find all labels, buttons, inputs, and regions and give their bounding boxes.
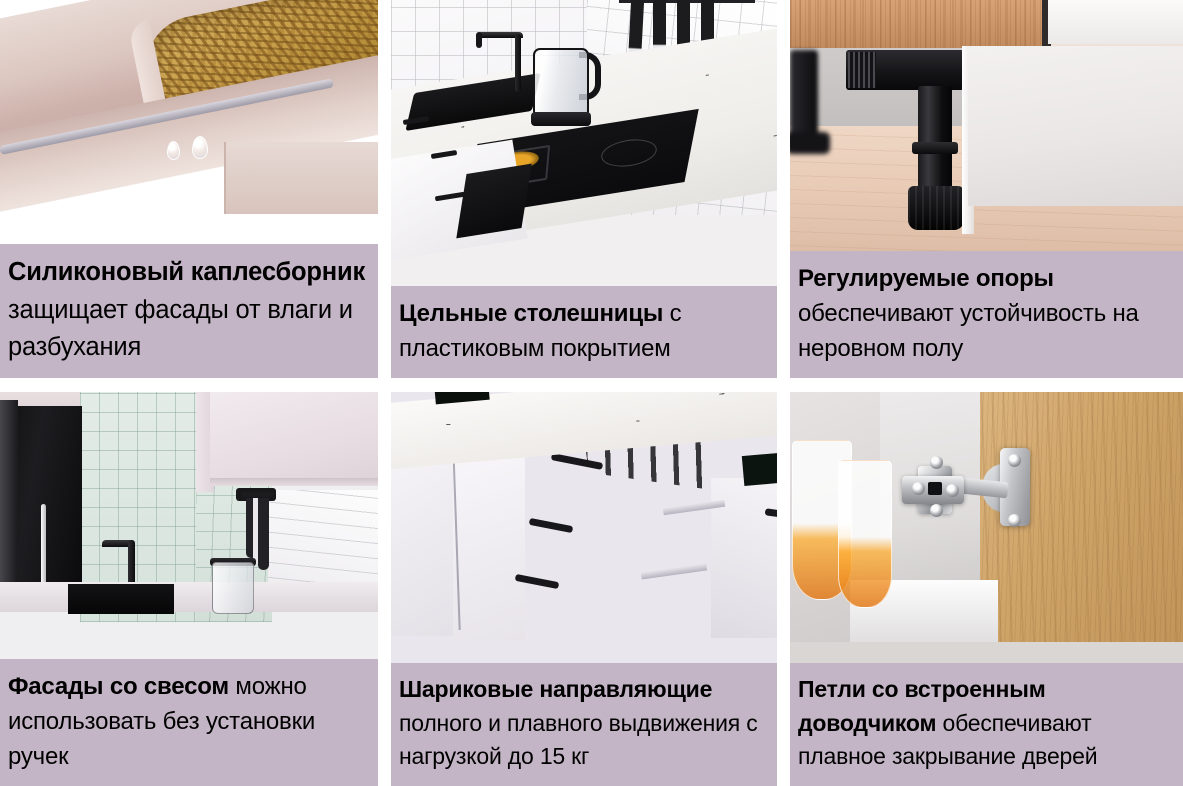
feature-card-ball-bearing-slides[interactable]: Шариковые направляющие полного и плавног…: [391, 392, 777, 786]
fridge-side-shape: [0, 400, 18, 612]
screw-icon: [930, 456, 943, 469]
feature-caption-lead: Цельные столешницы: [399, 300, 663, 327]
leg-post-shape: [918, 86, 952, 196]
white-cabinet-shape: [1048, 0, 1183, 44]
feature-caption: Регулируемые опоры обеспечивают устойчив…: [790, 251, 1183, 378]
feature-card-adjustable-legs[interactable]: Регулируемые опоры обеспечивают устойчив…: [790, 0, 1183, 378]
feature-caption: Силиконовый каплесборник защищает фасады…: [0, 244, 378, 378]
towel-shape: [258, 498, 269, 570]
kettle-base-shape: [531, 112, 591, 126]
water-drop-icon: [167, 141, 180, 160]
oven-shape: [456, 164, 531, 239]
feature-caption-lead: Регулируемые опоры: [798, 265, 1054, 292]
feature-caption: Цельные столешницы с пластиковым покрыти…: [391, 286, 777, 378]
feature-caption-rest: обеспечивают устойчивость на неровном по…: [798, 300, 1139, 362]
sink-basin-shape: [68, 584, 174, 614]
upper-cabinet-overhang-shape: [210, 478, 378, 486]
glass-kettle-shape: [533, 48, 589, 120]
feature-caption-rest: защищает фасады от влаги и разбухания: [8, 296, 353, 361]
feature-grid: Силиконовый каплесборник защищает фасады…: [0, 0, 1183, 786]
whisky-glass-shape: [838, 460, 892, 608]
towel-rail-shape: [242, 492, 274, 497]
screw-icon: [1008, 514, 1021, 527]
plinth-panel-shape: [968, 46, 1183, 206]
wood-grain-overlay: [790, 0, 1050, 48]
worktop-cutout-shape: [742, 452, 777, 486]
upper-cabinet-shape: [210, 392, 378, 484]
screw-icon: [912, 482, 925, 495]
screw-icon: [1008, 454, 1021, 467]
leg-foot-shape: [908, 186, 964, 230]
background-leg-foot-shape: [790, 132, 830, 154]
countertop-shape: [0, 582, 378, 612]
feature-caption: Фасады со свесом можно использовать без …: [0, 659, 378, 786]
screw-icon: [930, 504, 943, 517]
faucet-body-shape: [128, 540, 135, 586]
ball-bearing-slide-shape: [641, 563, 707, 579]
faucet-tip-shape: [476, 32, 482, 48]
screw-icon: [946, 484, 959, 497]
feature-card-soft-close-hinges[interactable]: Петли со встроенным доводчиком обеспечив…: [790, 392, 1183, 786]
feature-caption: Петли со встроенным доводчиком обеспечив…: [790, 663, 1183, 786]
hinge-adjust-slot-shape: [928, 482, 942, 495]
cabinet-front-shape: [226, 142, 378, 214]
feature-caption-lead: Силиконовый каплесборник: [8, 258, 365, 286]
feature-caption: Шариковые направляющие полного и плавног…: [391, 663, 777, 786]
glass-kettle-shape: [212, 562, 254, 614]
leg-ribs-shape: [848, 52, 876, 88]
water-drop-icon: [192, 136, 208, 159]
feature-caption-lead: Фасады со свесом: [8, 673, 229, 700]
feature-card-solid-worktops[interactable]: Цельные столешницы с пластиковым покрыти…: [391, 0, 777, 378]
faucet-body-shape: [515, 34, 521, 92]
leg-adjust-collar-shape: [912, 142, 958, 154]
feature-card-overhang-fronts[interactable]: Фасады со свесом можно использовать без …: [0, 392, 378, 786]
background-leg-shape: [790, 50, 818, 142]
feature-card-silicone-drip-guard[interactable]: Силиконовый каплесборник защищает фасады…: [0, 0, 378, 378]
feature-caption-rest: полного и плавного выдвижения с нагрузко…: [399, 710, 758, 770]
feature-caption-lead: Шариковые направляющие: [399, 676, 712, 702]
